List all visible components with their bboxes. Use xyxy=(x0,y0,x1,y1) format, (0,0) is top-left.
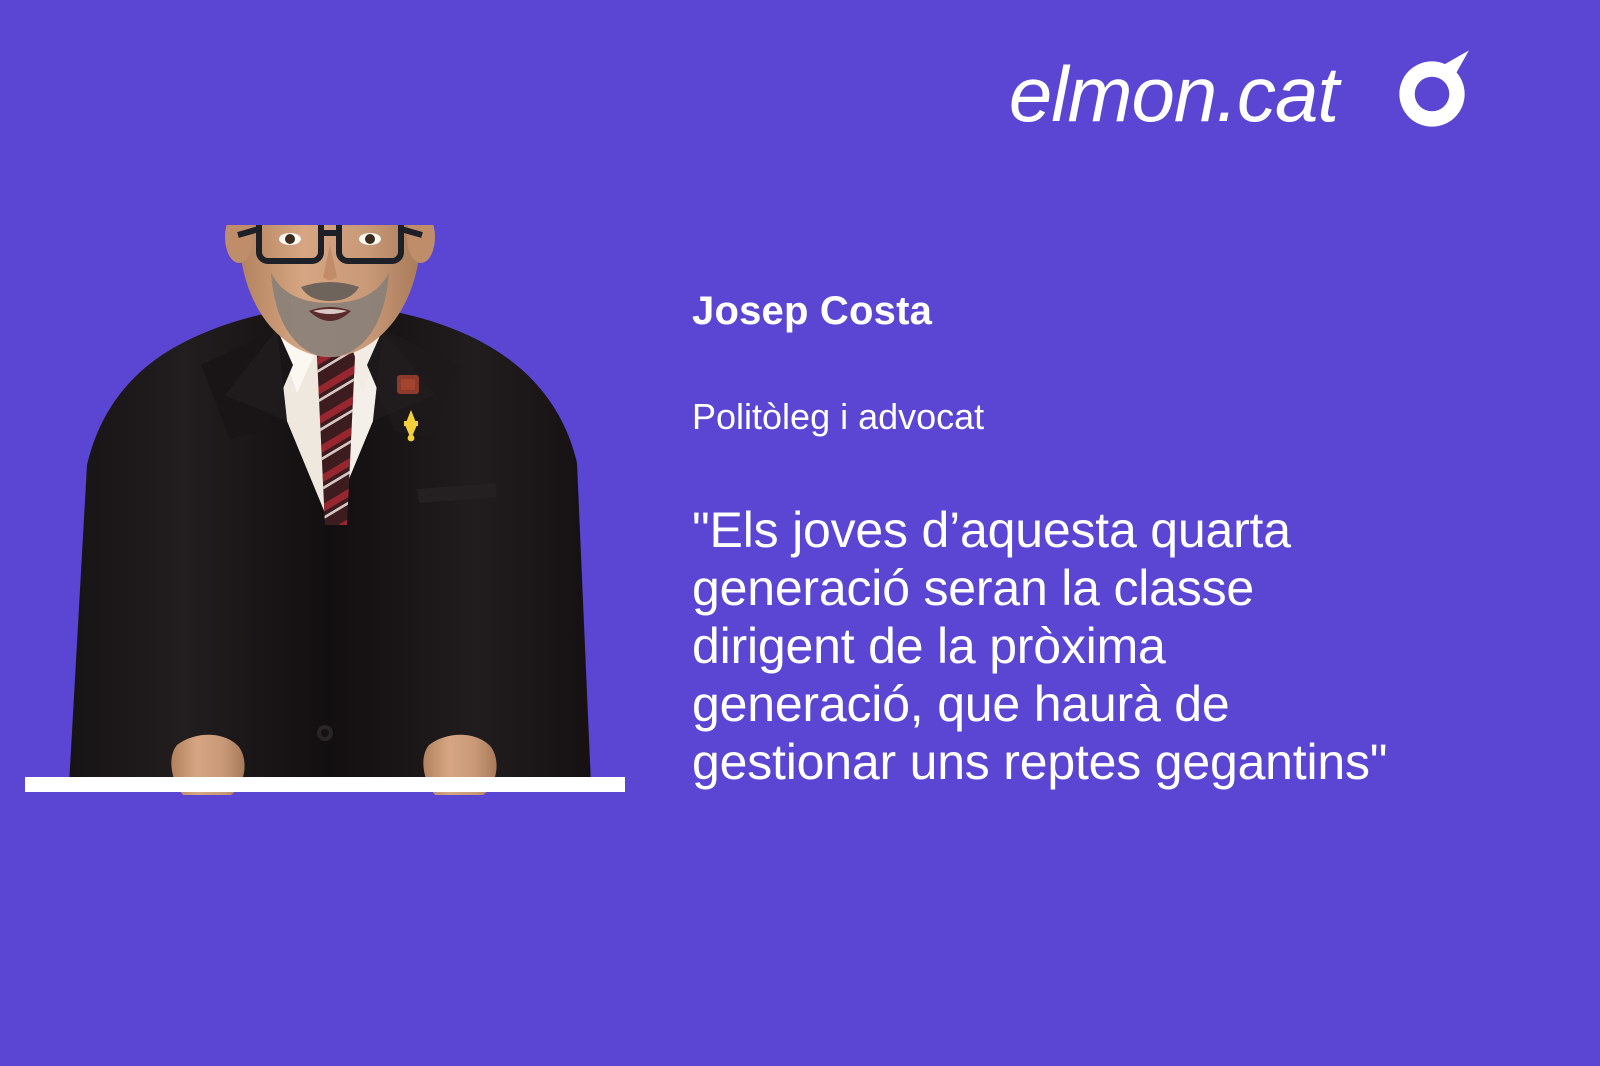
portrait-photo xyxy=(25,225,645,795)
portrait-container xyxy=(25,225,645,795)
photo-underline-rule xyxy=(25,777,625,792)
brand-wordmark: elmon.cat xyxy=(1009,55,1338,133)
person-name: Josep Costa xyxy=(692,288,1452,334)
person-role: Politòleg i advocat xyxy=(692,396,1452,437)
pull-quote: "Els joves d’aquesta quarta generació se… xyxy=(692,501,1402,791)
brand-lockup: elmon.cat xyxy=(1009,46,1480,142)
quote-text-column: Josep Costa Politòleg i advocat "Els jov… xyxy=(692,288,1452,791)
elmon-ring-tail-logo-icon xyxy=(1384,46,1480,142)
quote-card: elmon.cat xyxy=(0,0,1600,1066)
